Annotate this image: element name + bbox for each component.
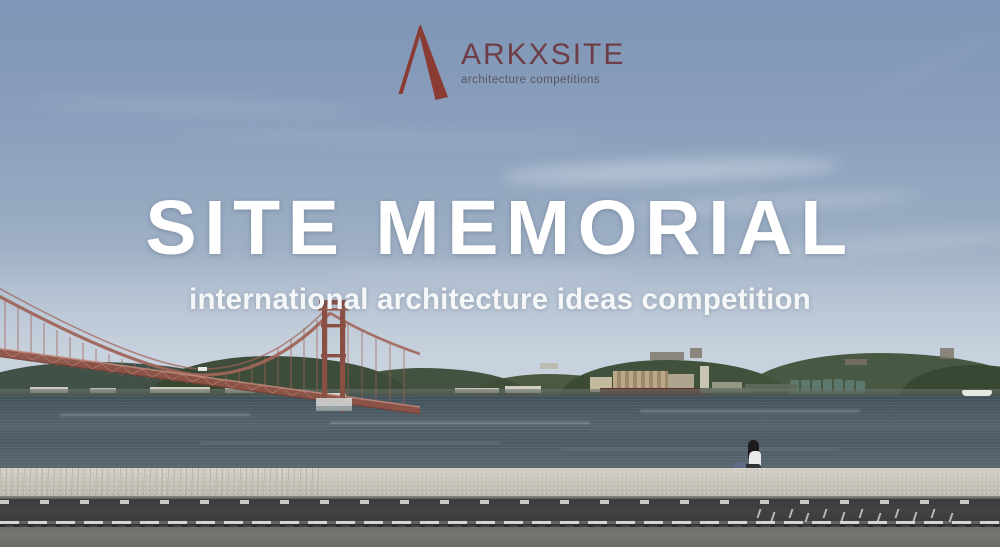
water-glint bbox=[560, 448, 840, 450]
water-glint bbox=[200, 442, 500, 444]
small-boat bbox=[320, 393, 346, 400]
arkxsite-wordmark-block: ARKXSITE architecture competitions bbox=[461, 22, 625, 87]
ridge-building bbox=[940, 348, 954, 359]
ridge-building bbox=[845, 359, 867, 365]
promenade-paving-pattern bbox=[0, 468, 320, 498]
arkxsite-a-mark bbox=[395, 22, 451, 100]
foreground-pavement bbox=[0, 527, 1000, 547]
ridge-building bbox=[540, 363, 558, 369]
road-edge-dashes bbox=[0, 500, 1000, 504]
ridge-building bbox=[690, 348, 702, 358]
water-glint bbox=[640, 410, 860, 412]
competition-subtitle: international architecture ideas competi… bbox=[0, 285, 1000, 315]
water-glint bbox=[60, 414, 250, 416]
arkxsite-wordmark: ARKXSITE bbox=[461, 40, 625, 70]
competition-banner: ARKXSITE architecture competitions SITE … bbox=[0, 0, 1000, 547]
distant-hills bbox=[0, 336, 1000, 398]
ridge-building bbox=[650, 352, 684, 360]
small-boat bbox=[962, 390, 992, 396]
headline-block: SITE MEMORIAL international architecture… bbox=[0, 190, 1000, 315]
competition-title: SITE MEMORIAL bbox=[0, 190, 1000, 267]
arkxsite-tagline: architecture competitions bbox=[461, 75, 625, 87]
stone-promenade bbox=[0, 468, 1000, 498]
arkxsite-logo[interactable]: ARKXSITE architecture competitions bbox=[395, 22, 625, 100]
river-water bbox=[0, 396, 1000, 472]
water-glint bbox=[330, 422, 590, 424]
